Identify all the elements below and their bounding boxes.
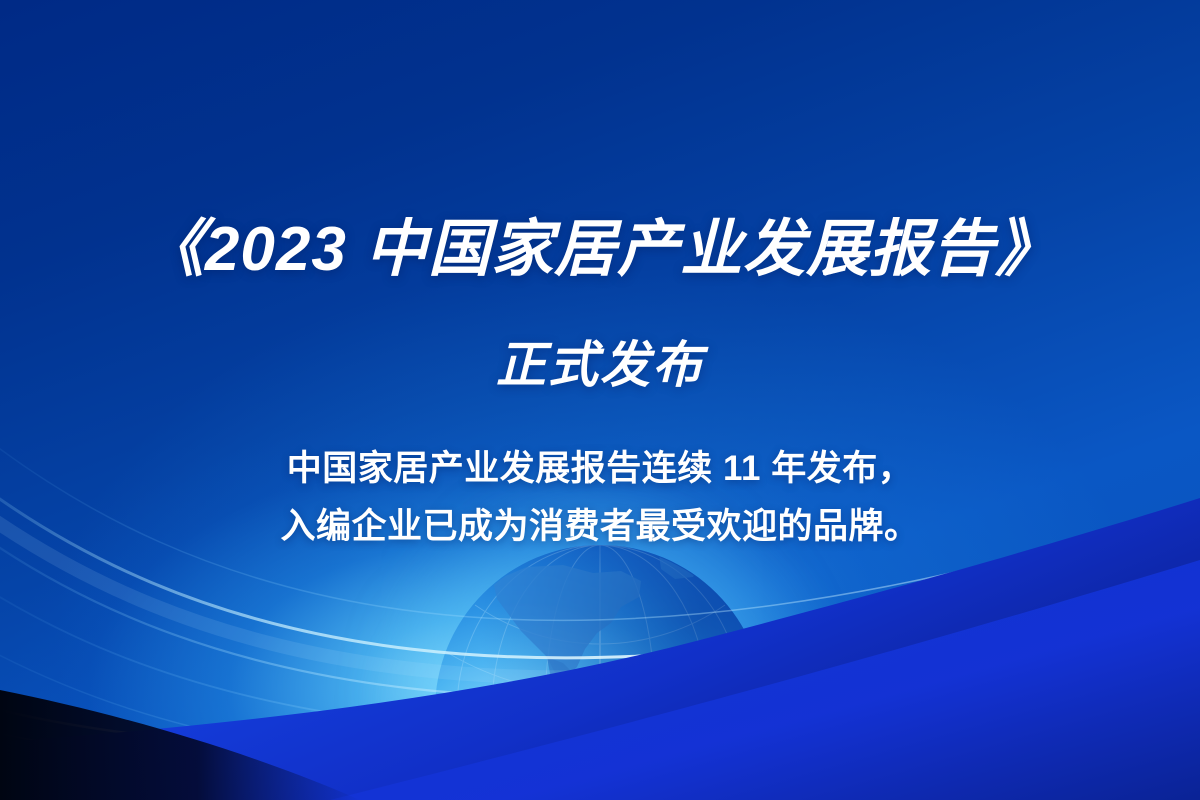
page-title: 《2023 中国家居产业发展报告》 [0,216,1200,284]
description-line-1: 中国家居产业发展报告连续 11 年发布， [0,440,1200,498]
poster-content: 《2023 中国家居产业发展报告》 正式发布 中国家居产业发展报告连续 11 年… [0,0,1200,800]
poster-canvas: 《2023 中国家居产业发展报告》 正式发布 中国家居产业发展报告连续 11 年… [0,0,1200,800]
description-block: 中国家居产业发展报告连续 11 年发布， 入编企业已成为消费者最受欢迎的品牌。 [0,440,1200,556]
release-subtitle: 正式发布 [0,338,1200,393]
description-line-2: 入编企业已成为消费者最受欢迎的品牌。 [0,498,1200,556]
